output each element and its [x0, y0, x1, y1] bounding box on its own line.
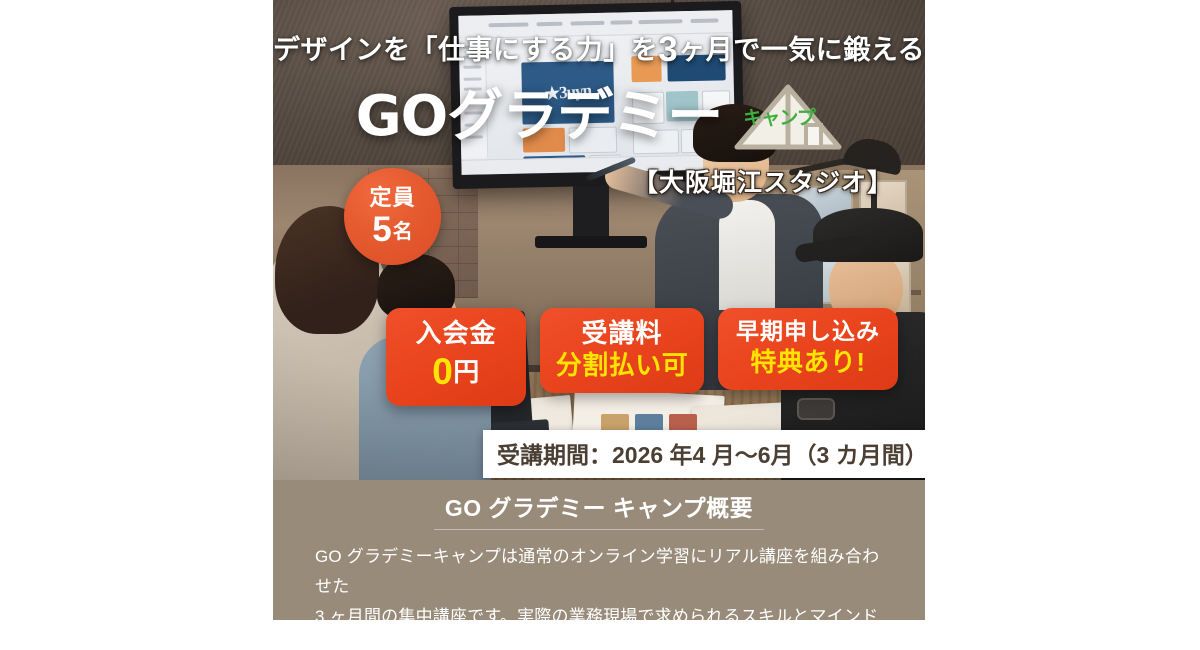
- tagline-number: 3: [658, 30, 678, 69]
- summary-body: GO グラデミーキャンプは通常のオンライン学習にリアル講座を組み合わせた 3 ヶ…: [315, 542, 883, 620]
- badge-early-bird-label: 早期申し込み: [732, 319, 884, 345]
- tagline-pre: デザインを「仕事にする力」を: [273, 35, 658, 65]
- summary-body-line-1: GO グラデミーキャンプは通常のオンライン学習にリアル講座を組み合わせた: [315, 542, 883, 602]
- tent-icon-label: キャンプ: [743, 103, 814, 130]
- photo-monitor-base: [535, 236, 647, 248]
- badge-admission-fee-number: 0: [432, 351, 453, 392]
- summary-title: GO グラデミー キャンプ概要: [273, 480, 925, 523]
- course-period-bar: 受講期間：2026 年4 月〜6月（3 カ月間）: [483, 430, 925, 478]
- summary-section: GO グラデミー キャンプ概要 GO グラデミーキャンプは通常のオンライン学習に…: [273, 480, 925, 620]
- badge-early-bird: 早期申し込み 特典あり!: [718, 308, 898, 390]
- badge-tuition-value: 分割払い可: [554, 351, 690, 380]
- promo-card: デザインを「仕事にする力」を3ヶ月で一気に鍛える! GOグラデミー キャンプ 【…: [273, 0, 925, 620]
- tagline-post: ヶ月で一気に鍛える!: [678, 35, 925, 65]
- logo-lockup: GOグラデミー キャンプ: [273, 84, 925, 150]
- badge-early-bird-value: 特典あり!: [732, 348, 884, 377]
- studio-location-label: 【大阪堀江スタジオ】: [633, 163, 893, 199]
- photo-monitor-stand: [573, 186, 609, 240]
- badge-tuition: 受講料 分割払い可: [540, 308, 704, 393]
- badge-admission-fee-label: 入会金: [400, 319, 512, 348]
- badge-admission-fee-value: 0円: [400, 351, 512, 392]
- photo-person-instructor-shirt: [719, 200, 775, 310]
- summary-body-line-2: 3 ヶ月間の集中講座です。実際の業務現場で求められるスキルとマインドを: [315, 602, 883, 621]
- tent-icon: キャンプ: [734, 84, 842, 150]
- badge-tuition-label: 受講料: [554, 319, 690, 348]
- capacity-unit: 名: [393, 221, 413, 243]
- summary-title-underline: [434, 529, 764, 530]
- hero-tagline: デザインを「仕事にする力」を3ヶ月で一気に鍛える!: [273, 28, 925, 70]
- page-root: デザインを「仕事にする力」を3ヶ月で一気に鍛える! GOグラデミー キャンプ 【…: [0, 0, 1200, 650]
- capacity-label: 定員: [369, 187, 415, 209]
- hero-photo: デザインを「仕事にする力」を3ヶ月で一気に鍛える! GOグラデミー キャンプ 【…: [273, 0, 925, 480]
- capacity-badge: 定員 5名: [344, 168, 441, 265]
- capacity-number: 5: [372, 210, 391, 249]
- brand-logo-text: GOグラデミー: [356, 89, 723, 145]
- benefit-badge-group: 入会金 0円 受講料 分割払い可 早期申し込み 特典あり!: [386, 308, 898, 406]
- capacity-value: 5名: [372, 212, 412, 247]
- badge-admission-fee-unit: 円: [453, 357, 480, 387]
- badge-admission-fee: 入会金 0円: [386, 308, 526, 406]
